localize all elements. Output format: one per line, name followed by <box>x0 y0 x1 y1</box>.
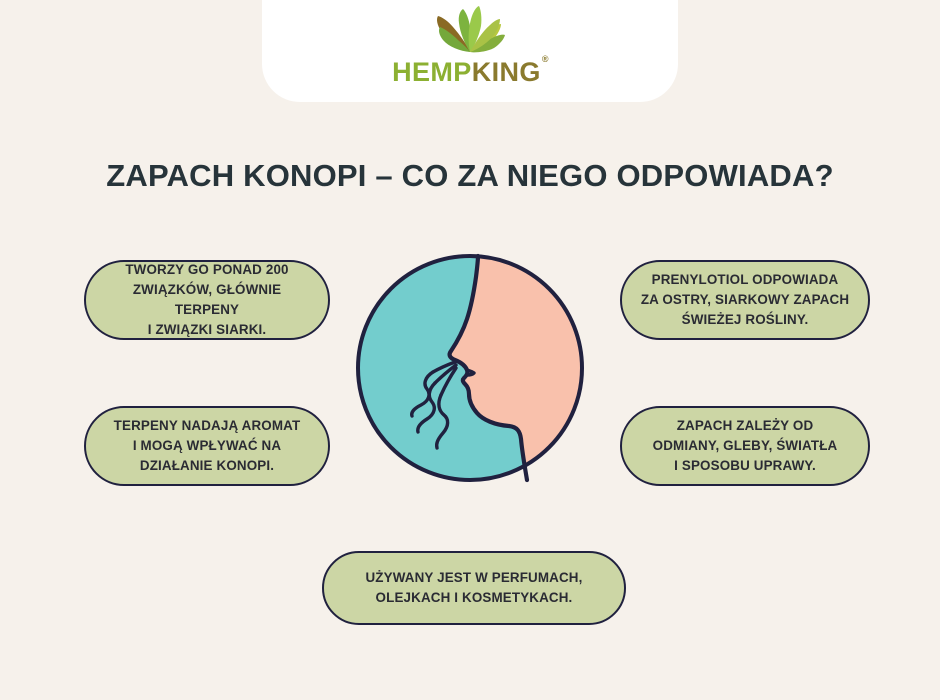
bubble-variables-text: ZAPACH ZALEŻY OD ODMIANY, GLEBY, ŚWIATŁA… <box>653 416 838 475</box>
logo[interactable]: HEMPKING® <box>392 5 548 86</box>
bubble-compounds: TWORZY GO PONAD 200 ZWIĄZKÓW, GŁÓWNIE TE… <box>84 260 330 340</box>
bubble-terpenes: TERPENY NADAJĄ AROMAT I MOGĄ WPŁYWAĆ NA … <box>84 406 330 486</box>
cannabis-leaf-icon <box>422 5 518 57</box>
woman-profile-smelling-icon <box>355 253 585 483</box>
logo-wordmark: HEMPKING® <box>392 59 548 86</box>
logo-word-hemp: HEMP <box>392 57 472 87</box>
brand-header-card: HEMPKING® <box>262 0 678 102</box>
bubble-usage: UŻYWANY JEST W PERFUMACH, OLEJKACH I KOS… <box>322 551 626 625</box>
registered-mark: ® <box>542 54 549 64</box>
bubble-variables: ZAPACH ZALEŻY OD ODMIANY, GLEBY, ŚWIATŁA… <box>620 406 870 486</box>
bubble-prenylthiol: PRENYLOTIOL ODPOWIADA ZA OSTRY, SIARKOWY… <box>620 260 870 340</box>
bubble-usage-text: UŻYWANY JEST W PERFUMACH, OLEJKACH I KOS… <box>365 568 582 608</box>
bubble-prenylthiol-text: PRENYLOTIOL ODPOWIADA ZA OSTRY, SIARKOWY… <box>641 270 849 329</box>
page-title: ZAPACH KONOPI – CO ZA NIEGO ODPOWIADA? <box>0 158 940 194</box>
bubble-compounds-text: TWORZY GO PONAD 200 ZWIĄZKÓW, GŁÓWNIE TE… <box>100 260 314 339</box>
logo-word-king: KING <box>472 57 541 87</box>
bubble-terpenes-text: TERPENY NADAJĄ AROMAT I MOGĄ WPŁYWAĆ NA … <box>114 416 301 475</box>
